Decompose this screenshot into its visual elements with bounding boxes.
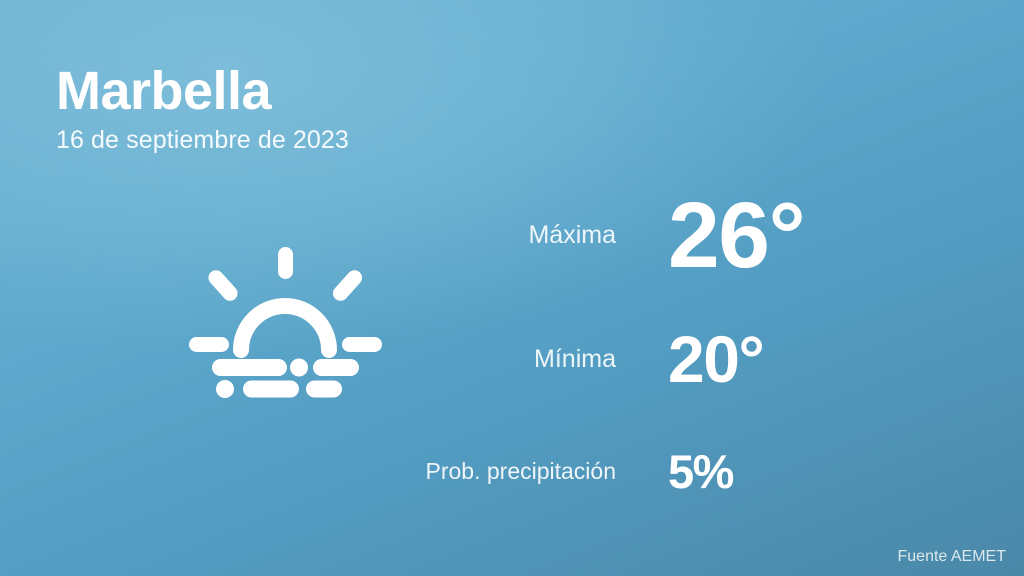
haze-dot-left-3 <box>216 380 234 398</box>
page-title: Marbella <box>56 64 349 118</box>
haze-bar-right-2 <box>313 359 359 376</box>
readings-list: Máxima 26° Mínima 20° Prob. precipitació… <box>410 175 970 519</box>
maxima-label: Máxima <box>410 221 668 250</box>
sun-haze-icon <box>175 235 395 410</box>
sun-ray-upper-right <box>330 267 365 304</box>
reading-row-minima: Mínima 20° <box>410 295 970 423</box>
haze-dot-mid-2 <box>290 359 308 377</box>
reading-row-maxima: Máxima 26° <box>410 175 970 295</box>
weather-icon-container <box>175 235 395 410</box>
precipitacion-label: Prob. precipitación <box>410 458 668 485</box>
reading-row-precipitacion: Prob. precipitación 5% <box>410 423 970 519</box>
haze-bar-right-3 <box>306 381 342 398</box>
precipitacion-value: 5% <box>668 448 733 495</box>
forecast-date: 16 de septiembre de 2023 <box>56 118 349 153</box>
sun-ray-top <box>278 247 293 279</box>
minima-label: Mínima <box>410 345 668 374</box>
haze-bar-mid-3 <box>243 381 299 398</box>
header: Marbella 16 de septiembre de 2023 <box>56 64 349 153</box>
sun-ray-upper-left <box>205 267 240 304</box>
source-attribution: Fuente AEMET <box>898 548 1007 566</box>
haze-bar-right-1 <box>342 337 382 352</box>
haze-bar-left-2 <box>212 359 287 376</box>
weather-card: Marbella 16 de septiembre de 2023 Máx <box>0 0 1024 576</box>
haze-bar-left-1 <box>189 337 229 352</box>
maxima-value: 26° <box>668 189 804 282</box>
sun-arc <box>241 306 329 350</box>
minima-value: 20° <box>668 326 763 392</box>
